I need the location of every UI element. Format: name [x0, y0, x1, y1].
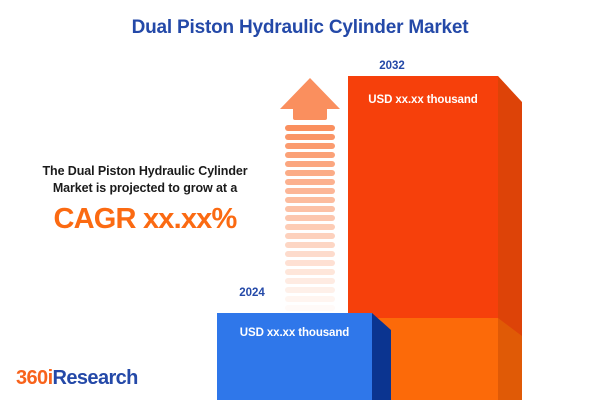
market-infographic: Dual Piston Hydraulic Cylinder Market Th…	[0, 0, 600, 400]
bar-chart: USD xx.xx thousand 2032 USD xx.xx thousa…	[0, 0, 600, 400]
bar-2032-year-label: 2032	[348, 60, 436, 72]
logo-suffix: Research	[53, 367, 138, 389]
logo-prefix: 360i	[16, 367, 53, 389]
bar-2024-value-label: USD xx.xx thousand	[217, 327, 372, 339]
company-logo[interactable]: 360iResearch	[16, 367, 138, 390]
bar-2024-year-label: 2024	[217, 287, 287, 299]
bar-2032-value-label: USD xx.xx thousand	[348, 94, 498, 106]
